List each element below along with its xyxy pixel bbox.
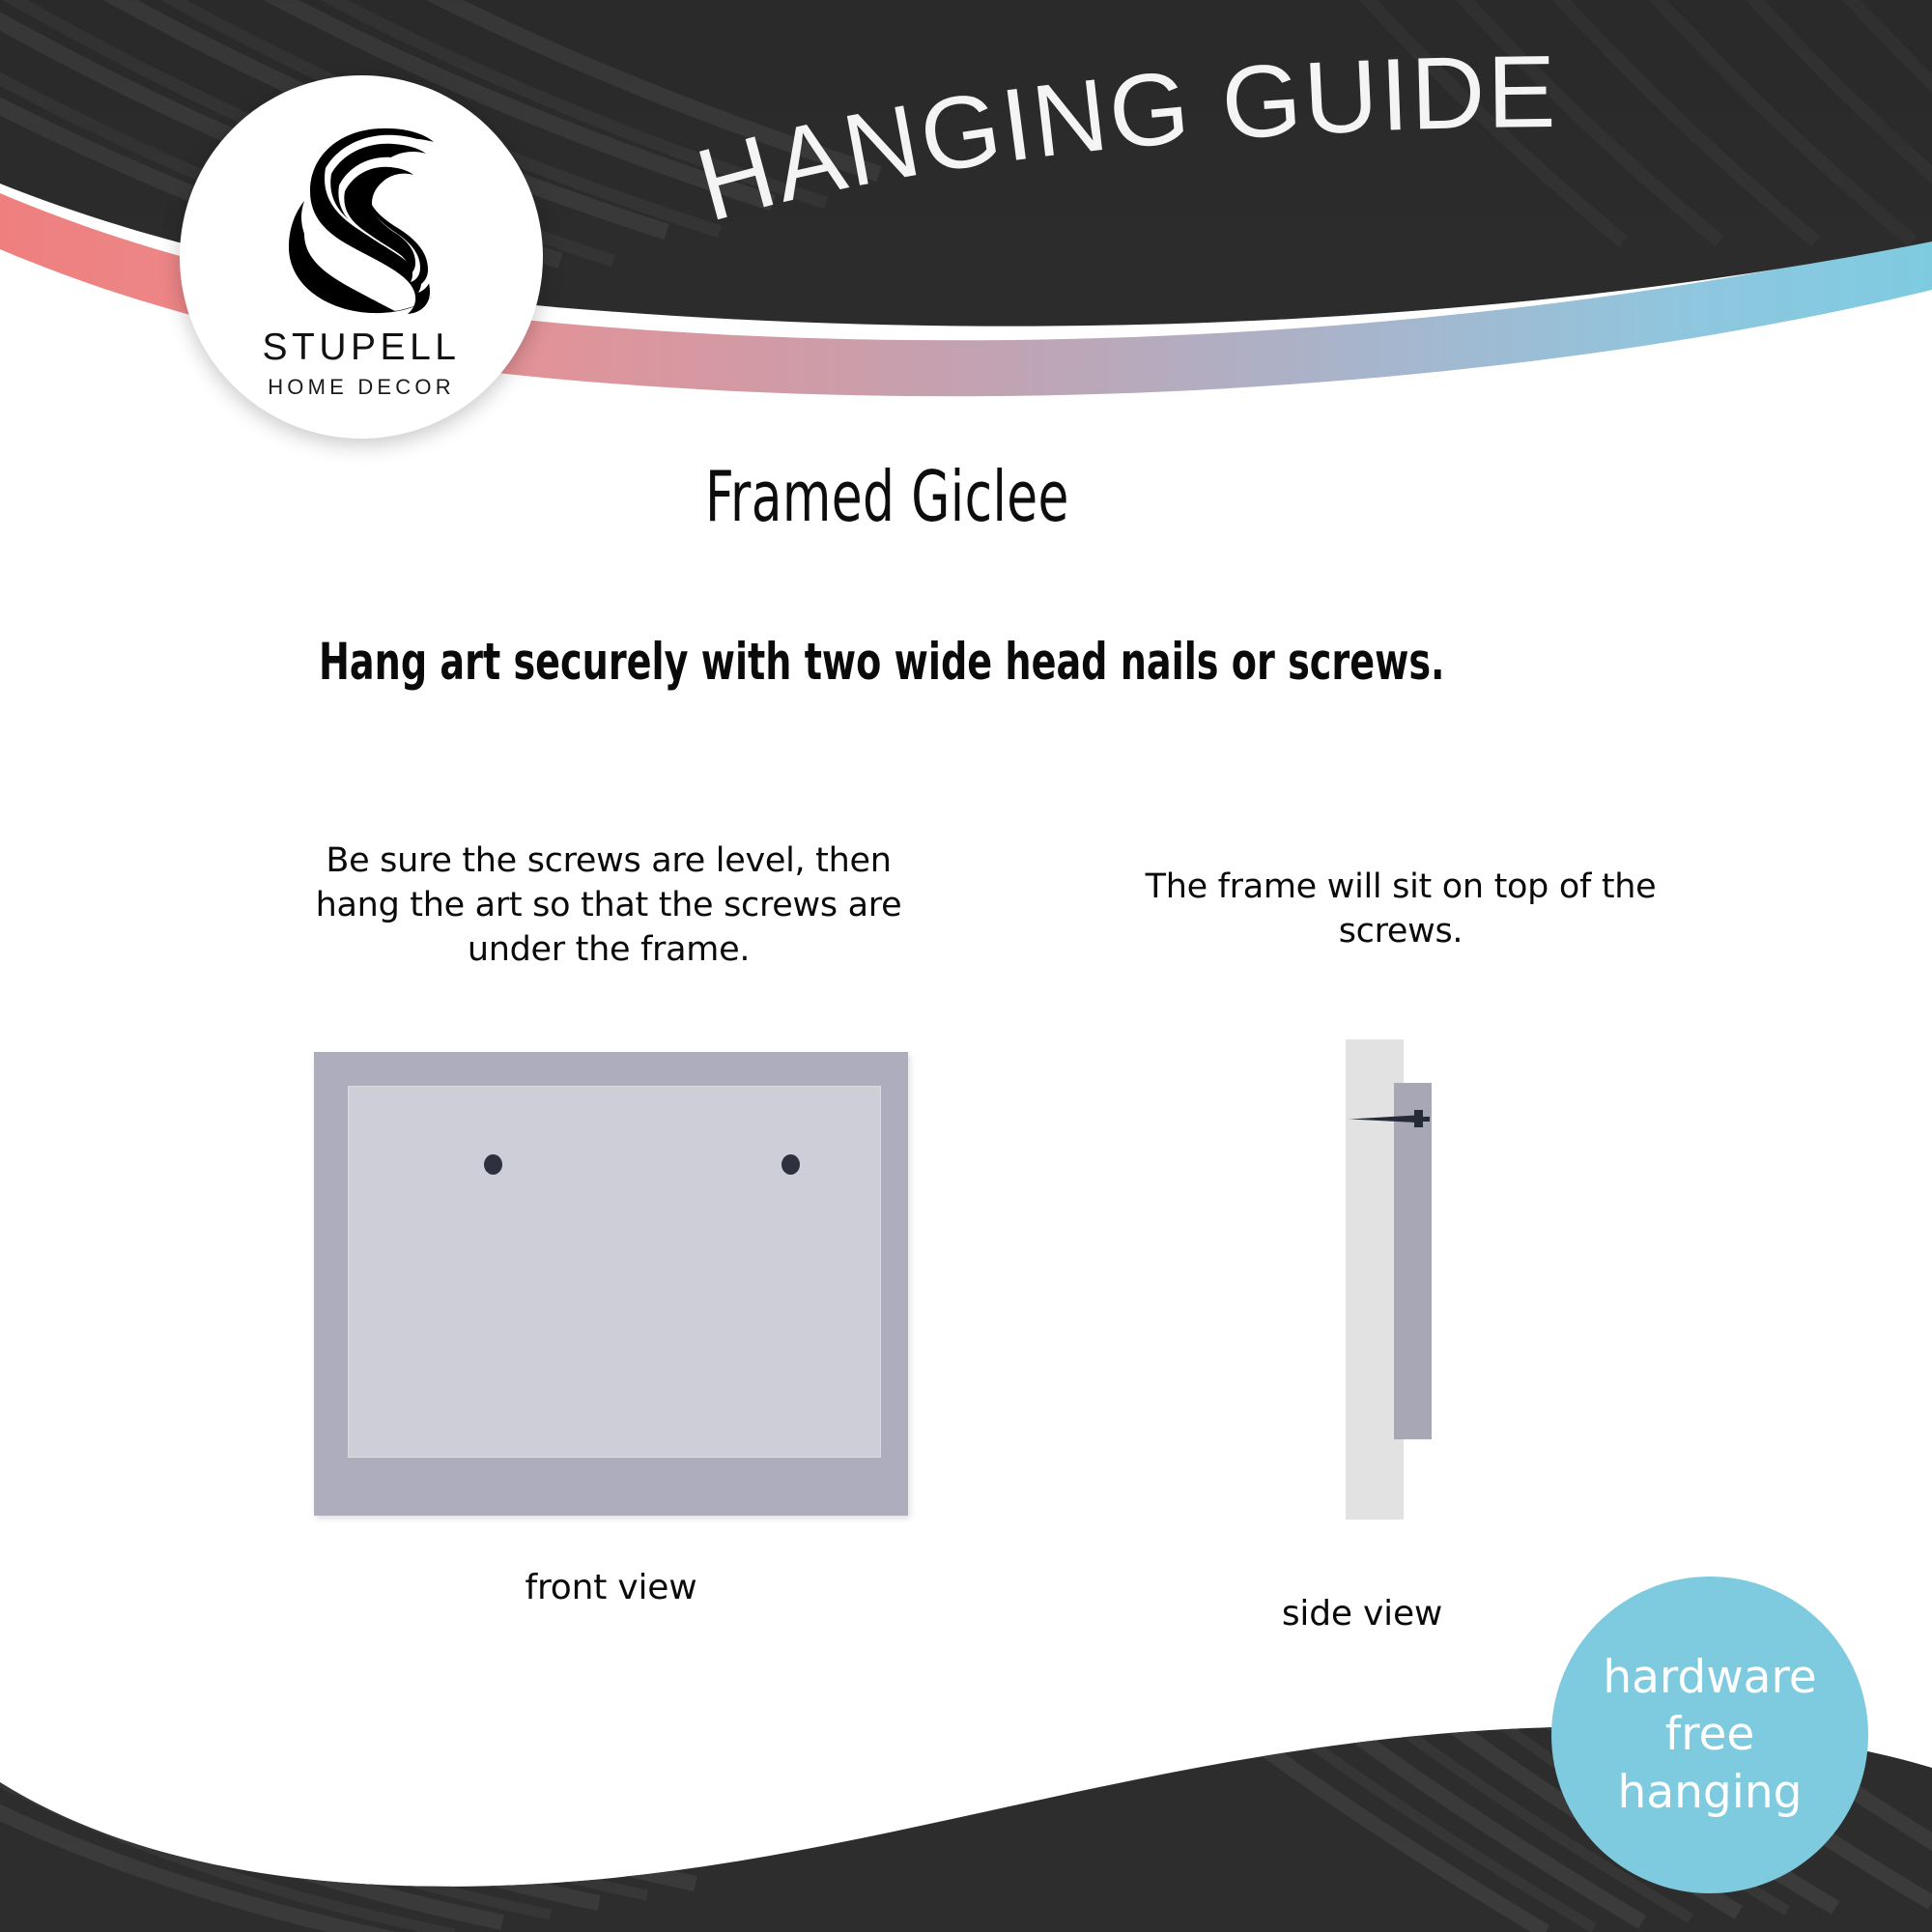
- instruction-lede: Hang art securely with two wide head nai…: [319, 633, 1445, 692]
- brand-name: STUPELL: [263, 328, 461, 366]
- front-view-frame: [314, 1052, 908, 1516]
- brand-logo-badge: STUPELL HOME DECOR: [180, 75, 543, 439]
- swan-s-logo-icon: [271, 126, 451, 315]
- badge-line-1: hardware: [1603, 1649, 1816, 1706]
- nail-icon: [1347, 1106, 1435, 1131]
- product-type-heading: Framed Giclee: [705, 456, 1069, 537]
- hardware-free-hanging-badge: hardware free hanging: [1551, 1577, 1868, 1893]
- screw-dot-right: [781, 1154, 800, 1175]
- front-view-mat: [348, 1086, 881, 1458]
- screw-dot-left: [484, 1154, 502, 1175]
- front-view-caption: Be sure the screws are level, then hang …: [309, 838, 908, 973]
- side-view-caption: The frame will sit on top of the screws.: [1145, 865, 1657, 953]
- front-view-label: front view: [314, 1568, 908, 1607]
- badge-line-3: hanging: [1618, 1764, 1803, 1821]
- hanging-guide-page: HANGING GUIDE STUPELL HOME DECOR Framed …: [0, 0, 1932, 1932]
- side-view-frame: [1394, 1083, 1432, 1439]
- badge-line-2: free: [1665, 1706, 1755, 1763]
- brand-subtitle: HOME DECOR: [268, 377, 455, 398]
